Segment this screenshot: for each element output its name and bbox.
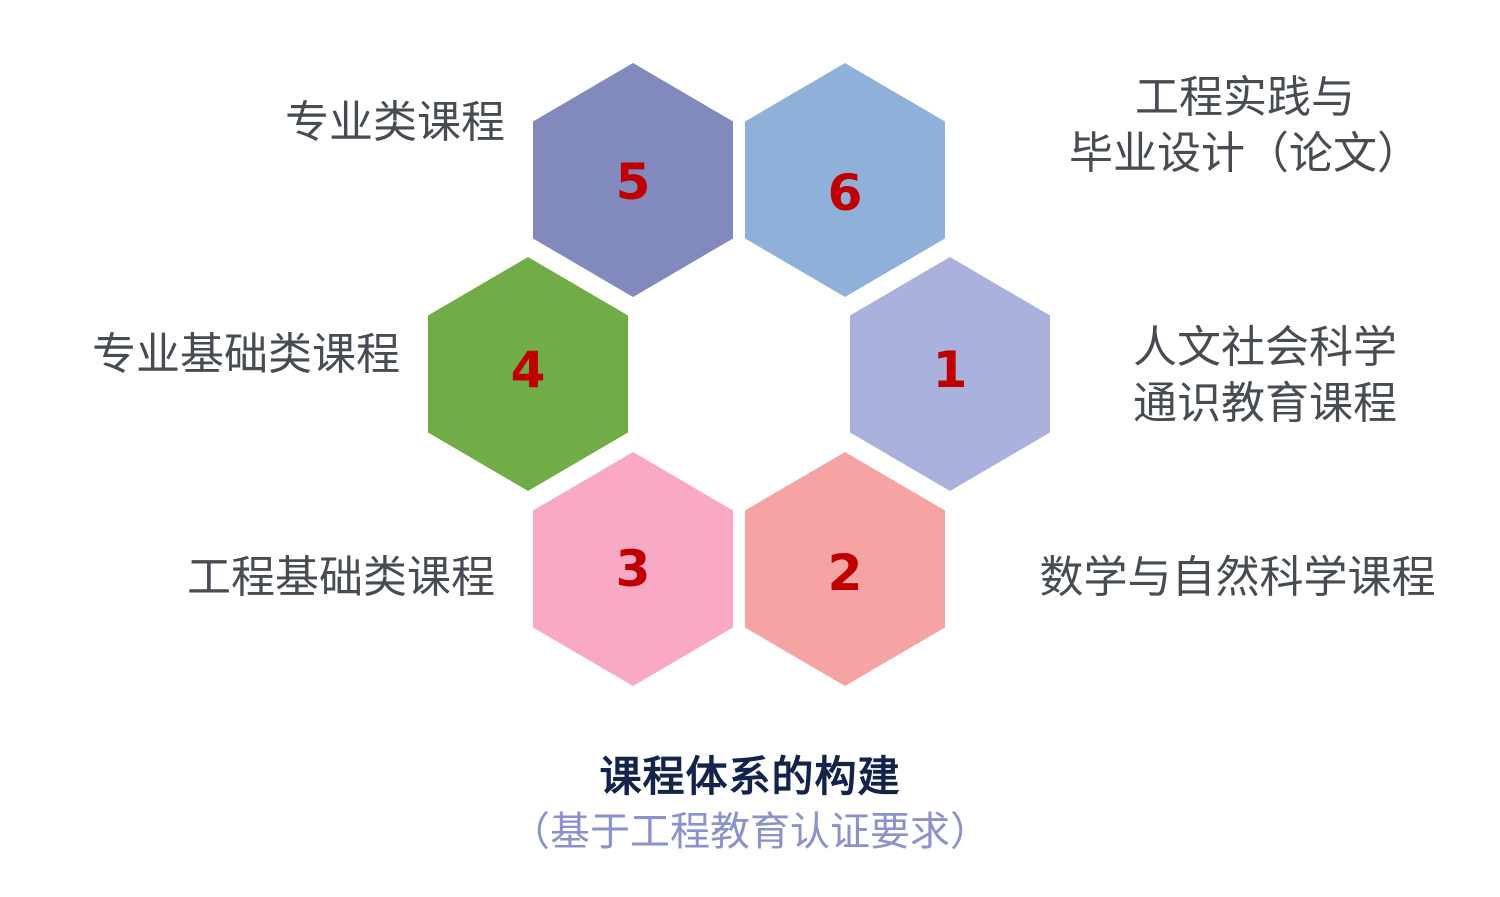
hexagon-number-6: 6 <box>745 168 945 218</box>
hexagon-segment-3[interactable]: 3 <box>533 452 733 686</box>
hexagon-number-3: 3 <box>533 544 733 594</box>
hexagon-segment-1[interactable]: 1 <box>850 257 1050 491</box>
diagram-subtitle: （基于工程教育认证要求） <box>0 808 1500 856</box>
hexagon-number-1: 1 <box>850 345 1050 395</box>
hexagon-segment-6[interactable]: 6 <box>745 63 945 297</box>
segment-label-4: 专业基础类课程 <box>0 327 400 383</box>
segment-label-2: 数学与自然科学课程 <box>975 550 1500 606</box>
segment-label-1: 人文社会科学 通识教育课程 <box>1060 320 1470 433</box>
hexagon-number-5: 5 <box>533 157 733 207</box>
hexagon-number-4: 4 <box>428 345 628 395</box>
segment-label-3: 工程基础类课程 <box>85 550 495 606</box>
hexagon-number-2: 2 <box>745 548 945 598</box>
hexagon-segment-5[interactable]: 5 <box>533 63 733 297</box>
segment-label-5: 专业类课程 <box>120 95 505 151</box>
diagram-title: 课程体系的构建 <box>0 752 1500 802</box>
caption-block: 课程体系的构建 （基于工程教育认证要求） <box>0 752 1500 856</box>
hexagon-segment-2[interactable]: 2 <box>745 452 945 686</box>
diagram-canvas: 5 6 4 1 3 2 专业类课程 工程实践与 毕业设计（论文） 专业基础类课程… <box>0 0 1500 897</box>
hexagon-segment-4[interactable]: 4 <box>428 257 628 491</box>
segment-label-6: 工程实践与 毕业设计（论文） <box>1010 70 1480 183</box>
